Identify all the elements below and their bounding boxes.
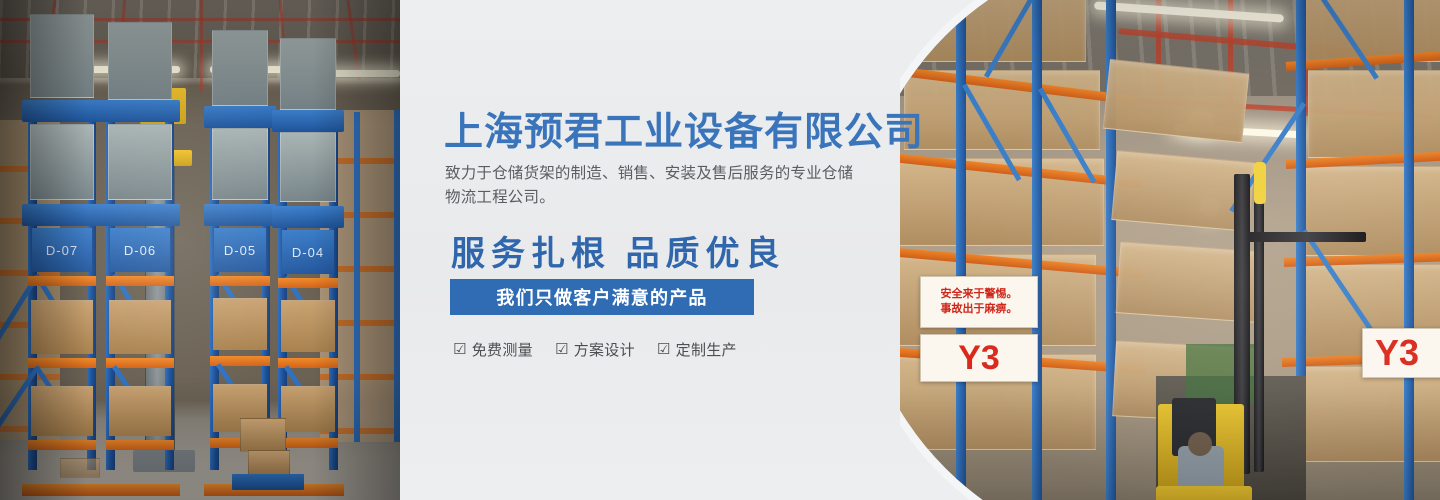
feature-label: 定制生产 <box>676 339 737 360</box>
warehouse-photo-left: D-07 D-06 <box>0 0 400 500</box>
check-box-icon: ☑ <box>657 342 671 357</box>
photo-vignette <box>900 0 1440 500</box>
photo-vignette <box>0 0 400 500</box>
company-slogan: 服务扎根 品质优良 <box>451 226 786 275</box>
feature-item-free-measure: ☑ 免费测量 <box>453 339 533 360</box>
warehouse-photo-right: 安全来于警惕。 事故出于麻痹。 Y3 Y3 <box>900 0 1440 500</box>
cta-button[interactable]: 我们只做客户满意的产品 <box>450 279 754 315</box>
banner-content: 上海预君工业设备有限公司 致力于仓储货架的制造、销售、安装及售后服务的专业仓储物… <box>443 0 913 500</box>
hero-banner: D-07 D-06 <box>0 0 1440 500</box>
check-box-icon: ☑ <box>453 342 467 357</box>
check-box-icon: ☑ <box>555 342 569 357</box>
company-subtitle: 致力于仓储货架的制造、销售、安装及售后服务的专业仓储物流工程公司。 <box>445 162 865 210</box>
company-title: 上海预君工业设备有限公司 <box>444 101 924 157</box>
photo-circle-mask: 安全来于警惕。 事故出于麻痹。 Y3 Y3 <box>900 0 1440 500</box>
feature-label: 方案设计 <box>574 339 635 360</box>
feature-item-custom-production: ☑ 定制生产 <box>657 339 737 360</box>
feature-list: ☑ 免费测量 ☑ 方案设计 ☑ 定制生产 <box>453 339 737 360</box>
warehouse-scene-left: D-07 D-06 <box>0 0 400 500</box>
feature-item-plan-design: ☑ 方案设计 <box>555 339 635 360</box>
feature-label: 免费测量 <box>472 339 533 360</box>
warehouse-scene-right: 安全来于警惕。 事故出于麻痹。 Y3 Y3 <box>900 0 1440 500</box>
